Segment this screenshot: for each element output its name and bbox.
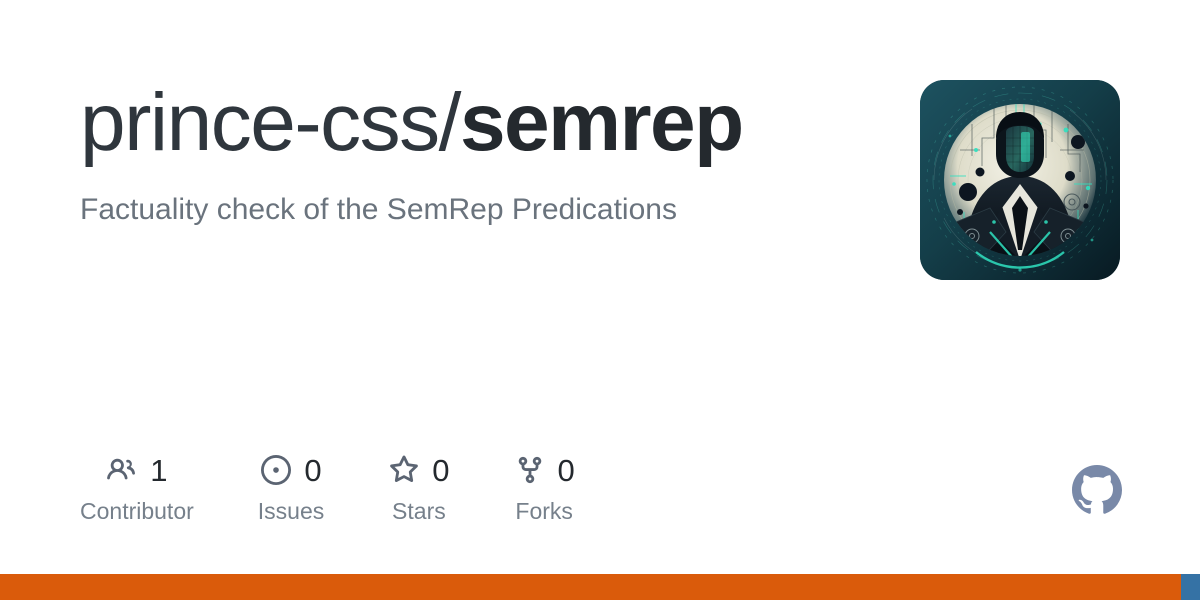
- stat-contributors[interactable]: 1 Contributor: [80, 452, 194, 523]
- repo-owner[interactable]: prince-css: [80, 77, 439, 168]
- stat-forks[interactable]: 0 Forks: [514, 452, 575, 523]
- language-segment-python: [1181, 574, 1200, 600]
- repo-forked-icon: [514, 454, 546, 486]
- stat-forks-label: Forks: [515, 500, 573, 523]
- people-icon: [106, 454, 138, 486]
- page-title: prince-css/semrep: [80, 80, 880, 165]
- stat-forks-value: 0: [558, 455, 575, 486]
- language-segment-jupyter-notebook: [0, 574, 1181, 600]
- repository-stats: 1 Contributor 0 Issues: [80, 452, 575, 523]
- stat-contributors-value: 1: [150, 455, 167, 486]
- github-mark-icon: [1072, 465, 1122, 515]
- stat-stars-label: Stars: [392, 500, 446, 523]
- repository-avatar: [920, 80, 1120, 280]
- stat-stars-value: 0: [432, 455, 449, 486]
- star-icon: [388, 454, 420, 486]
- stat-forks-top: 0: [514, 452, 575, 488]
- stat-issues[interactable]: 0 Issues: [258, 452, 324, 523]
- title-block: prince-css/semrep Factuality check of th…: [80, 80, 880, 229]
- language-bar: [0, 574, 1200, 600]
- repo-description: Factuality check of the SemRep Predicati…: [80, 165, 880, 229]
- stat-stars-top: 0: [388, 452, 449, 488]
- issue-opened-icon: [260, 454, 292, 486]
- stat-stars[interactable]: 0 Stars: [388, 452, 449, 523]
- card-header: prince-css/semrep Factuality check of th…: [80, 80, 1120, 280]
- stat-contributors-label: Contributor: [80, 500, 194, 523]
- stat-issues-value: 0: [304, 455, 321, 486]
- stat-issues-label: Issues: [258, 500, 324, 523]
- repo-name[interactable]: semrep: [460, 77, 743, 168]
- repository-social-preview-card: prince-css/semrep Factuality check of th…: [0, 0, 1200, 600]
- repo-path-separator: /: [439, 77, 460, 168]
- stat-issues-top: 0: [260, 452, 321, 488]
- stat-contributors-top: 1: [106, 452, 167, 488]
